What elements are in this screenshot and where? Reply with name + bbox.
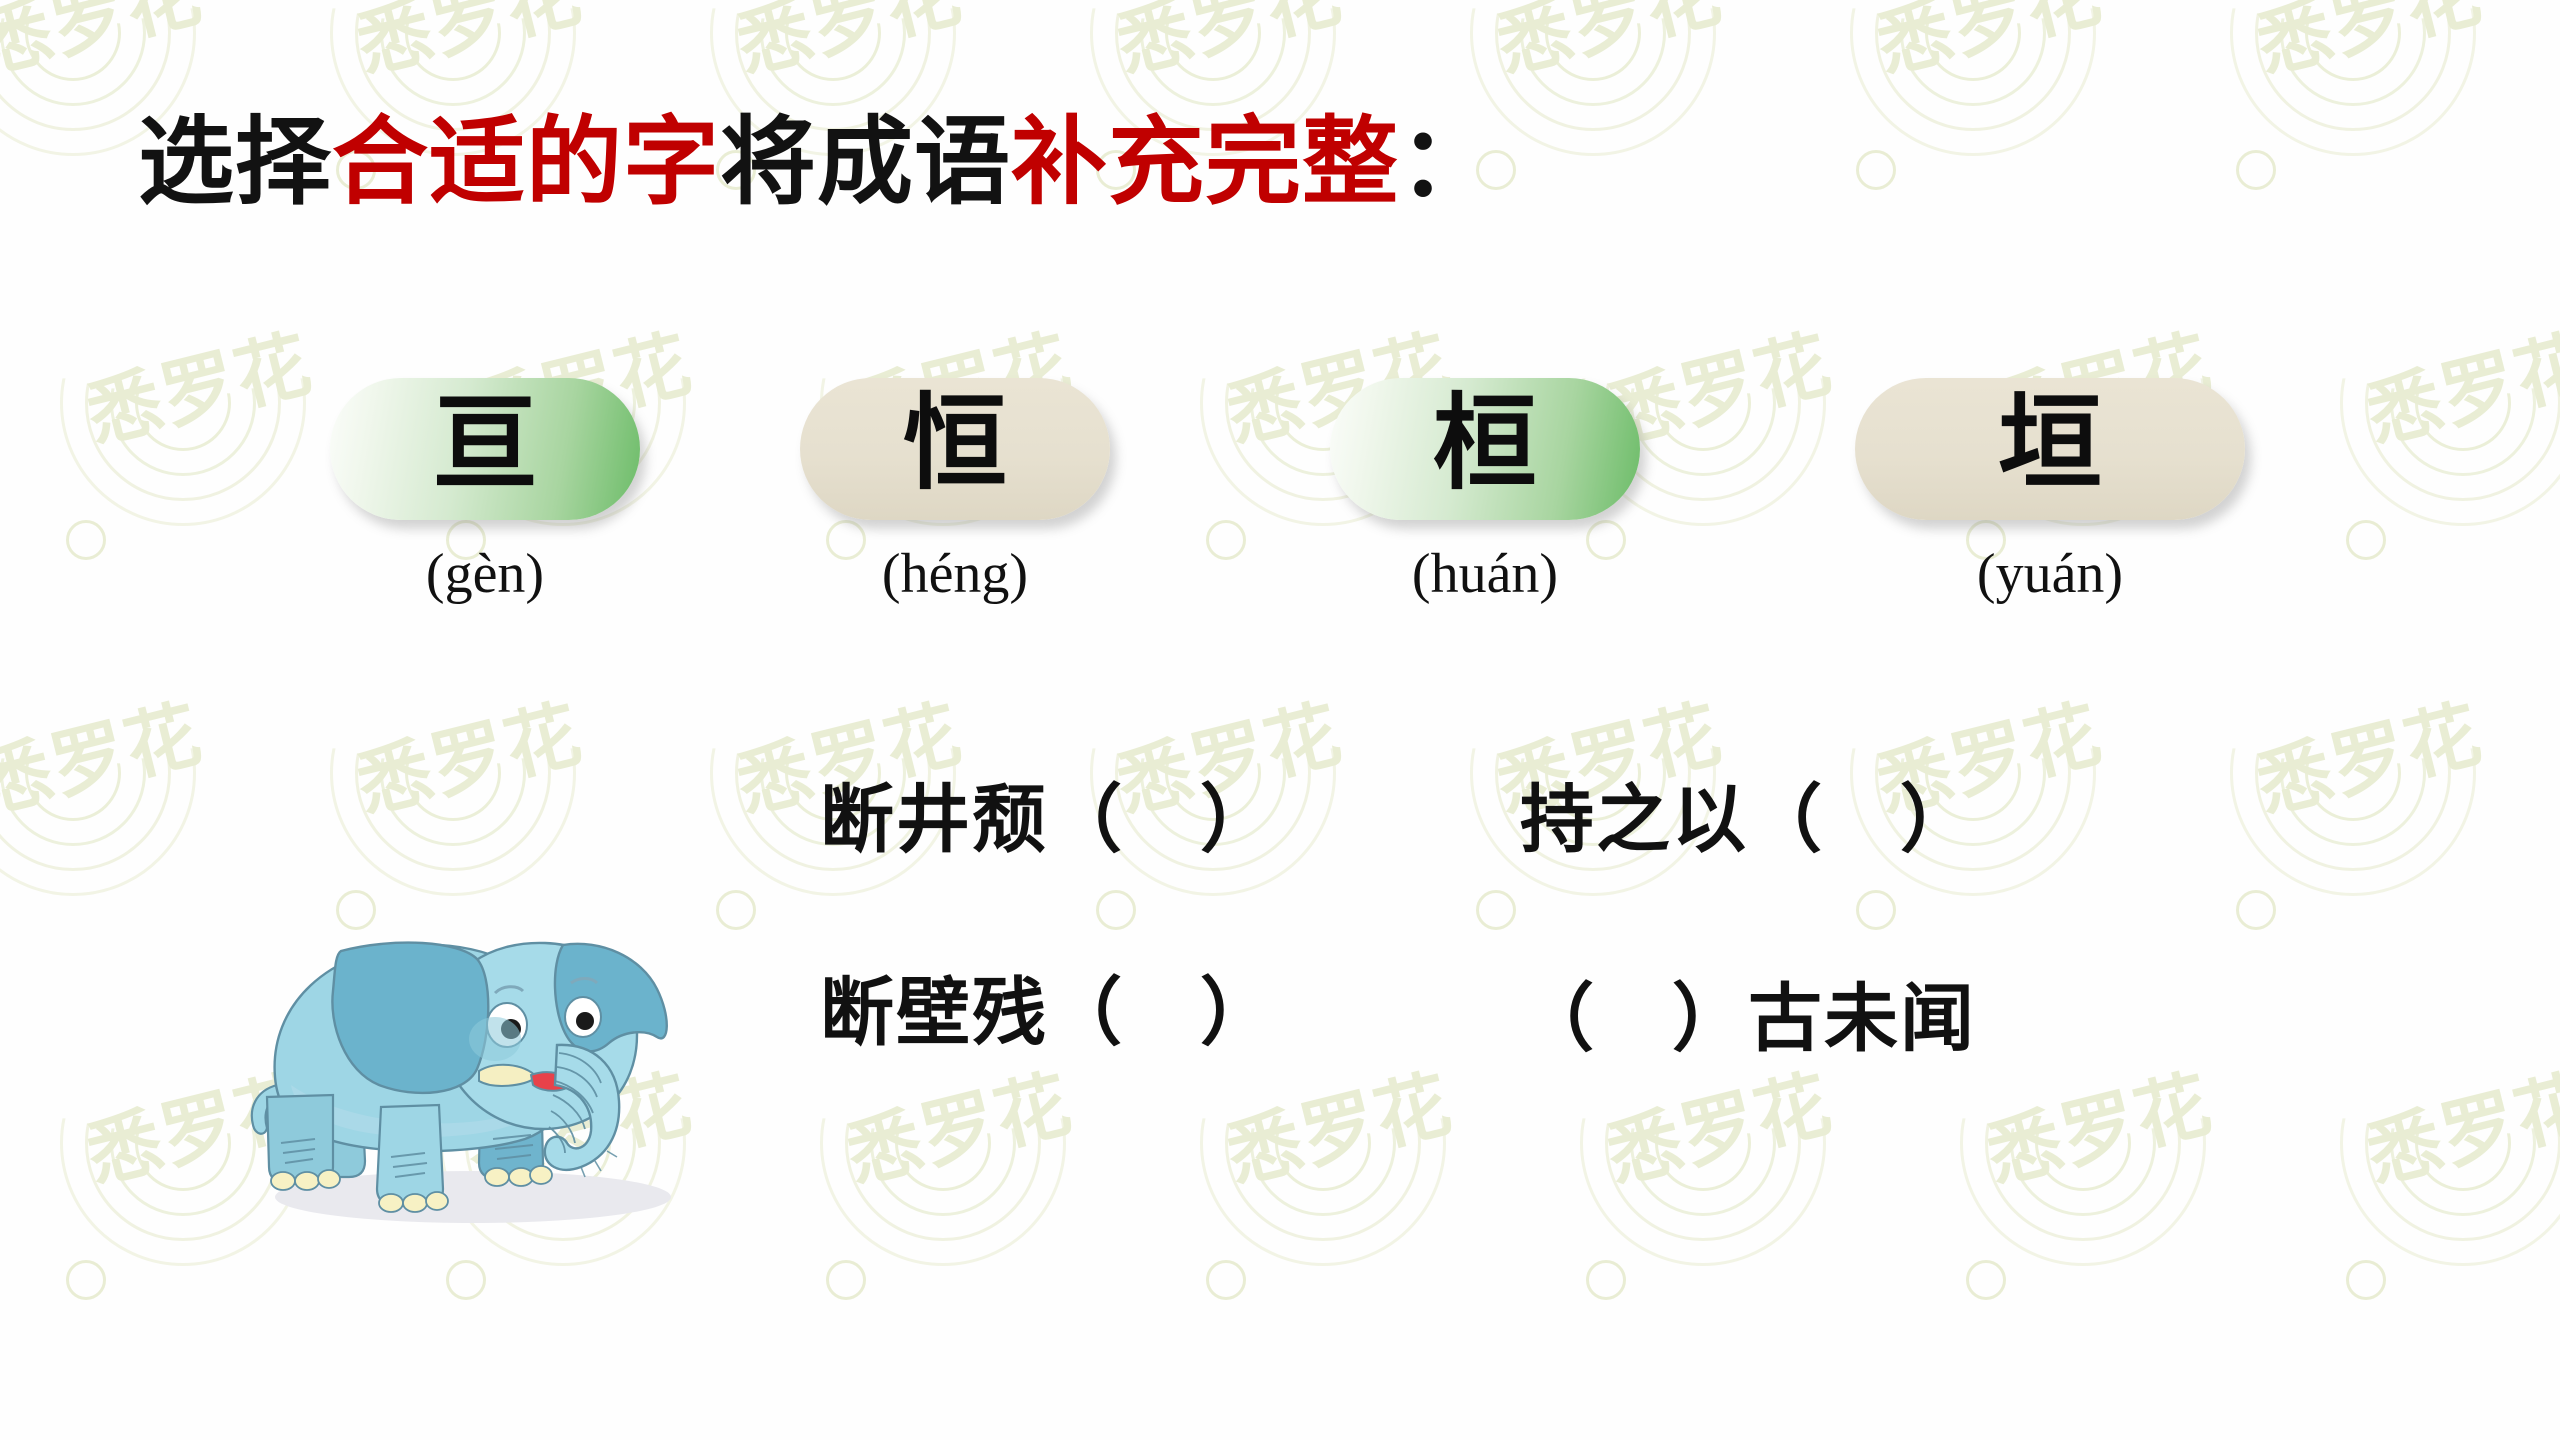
watermark-text: 悉罗花 [0, 0, 212, 93]
elephant-pupil-right [576, 1012, 594, 1030]
watermark-tile: 悉罗花 [1460, 0, 1890, 360]
choice-pinyin-2: (héng) [800, 542, 1110, 606]
choice-group-2: 恒 (héng) [800, 378, 1110, 606]
title-segment-3: 将成语 [720, 109, 1011, 216]
character-choice-row: 亘 (gèn) 恒 (héng) 桓 (huán) 垣 (yuán) [0, 378, 2560, 678]
choice-char-2: 恒 [903, 393, 1007, 497]
idiom-row: 断壁残（ ） （ ）古未闻 [820, 953, 2380, 1060]
title-segment-5: ： [1399, 109, 1496, 216]
watermark-text: 悉罗花 [2244, 0, 2491, 93]
choice-group-4: 垣 (yuán) [1855, 378, 2245, 606]
choice-pinyin-3: (huán) [1330, 542, 1640, 606]
page-title: 选择合适的字将成语补充完整： [138, 108, 1496, 218]
watermark-text: 悉罗花 [1864, 0, 2111, 93]
choice-pinyin-4: (yuán) [1855, 542, 2245, 606]
watermark-text: 悉罗花 [1104, 0, 1351, 93]
choice-pill-huan[interactable]: 桓 [1330, 378, 1640, 520]
elephant-illustration [245, 885, 695, 1230]
choice-pill-heng[interactable]: 恒 [800, 378, 1110, 520]
choice-pill-yuan[interactable]: 垣 [1855, 378, 2245, 520]
choice-char-3: 桓 [1433, 393, 1537, 497]
title-segment-1: 选择 [138, 109, 332, 216]
elephant-cheek [469, 1017, 521, 1061]
choice-pinyin-1: (gèn) [330, 542, 640, 606]
title-segment-2: 合适的字 [332, 109, 720, 216]
idiom-row: 断井颓（ ） 持之以（ ） [820, 760, 2380, 867]
watermark-text: 悉罗花 [1484, 0, 1731, 93]
idiom-3[interactable]: 断壁残（ ） [820, 953, 1520, 1060]
watermark-tile: 悉罗花 [1840, 0, 2270, 360]
watermark-text: 悉罗花 [724, 0, 971, 93]
idiom-4[interactable]: （ ）古未闻 [1520, 959, 2220, 1066]
watermark-tile: 悉罗花 [2220, 0, 2560, 360]
watermark-text: 悉罗花 [2354, 1044, 2560, 1203]
choice-char-4: 垣 [1998, 393, 2102, 497]
slide-canvas: 悉罗花悉罗花悉罗花悉罗花悉罗花悉罗花悉罗花悉罗花悉罗花悉罗花悉罗花悉罗花悉罗花悉… [0, 0, 2560, 1440]
elephant-ear-front [555, 944, 667, 1051]
idiom-grid: 断井颓（ ） 持之以（ ） 断壁残（ ） （ ）古未闻 [820, 760, 2380, 1146]
title-segment-4: 补充完整 [1011, 109, 1399, 216]
choice-pill-gen[interactable]: 亘 [330, 378, 640, 520]
idiom-2[interactable]: 持之以（ ） [1520, 760, 2220, 867]
choice-group-1: 亘 (gèn) [330, 378, 640, 606]
watermark-text: 悉罗花 [344, 674, 591, 833]
watermark-text: 悉罗花 [0, 674, 212, 833]
elephant-leg-front-right [267, 1095, 333, 1183]
choice-group-3: 桓 (huán) [1330, 378, 1640, 606]
idiom-1[interactable]: 断井颓（ ） [820, 760, 1520, 867]
watermark-text: 悉罗花 [344, 0, 591, 93]
choice-char-1: 亘 [433, 393, 537, 497]
